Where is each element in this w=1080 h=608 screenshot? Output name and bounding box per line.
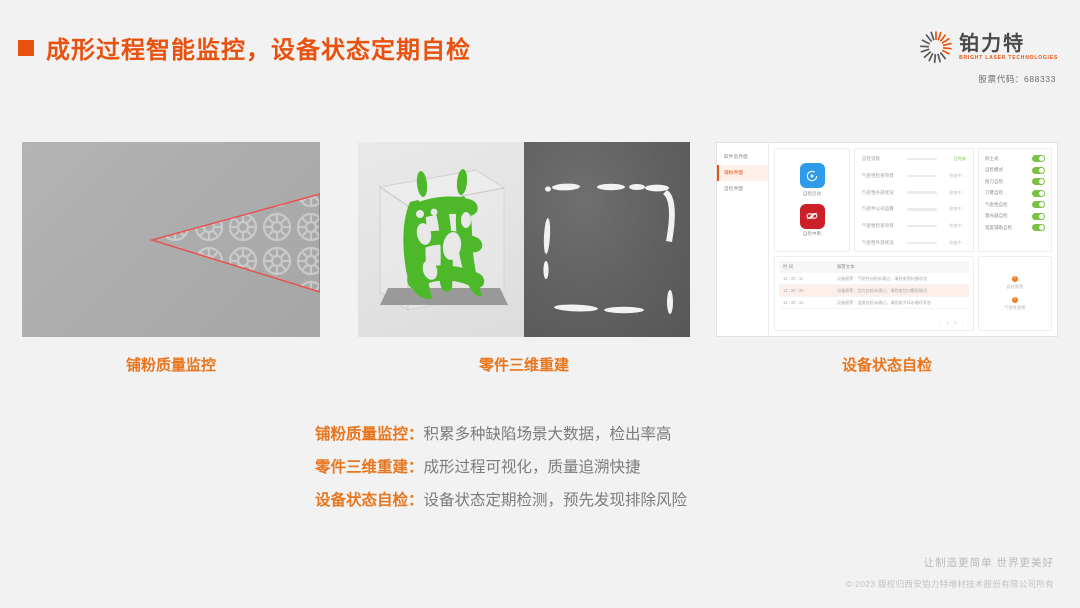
toggle-label: 温度辅助自检 <box>985 225 1012 231</box>
footer-copyright: © 2023 版权归西安铂力特增材技术股份有限公司所有 <box>846 578 1054 590</box>
table-row[interactable]: 13 : 20 : 36 设备报警：刮刀自检未通过，请检查刮刀磨损情况 <box>779 285 969 297</box>
toggle-label: 自检模式 <box>985 167 1003 173</box>
toggle-label: 除尘式 <box>985 156 999 162</box>
bullet-label: 铺粉质量监控： <box>315 426 424 443</box>
part-reconstruction-image <box>358 142 690 337</box>
table-header: 时 间 报警文本 <box>779 261 969 273</box>
progress-bar <box>907 191 937 194</box>
bullet-label: 设备状态自检： <box>315 492 424 509</box>
bullet-item: 铺粉质量监控：积累多种缺陷场景大数据，检出率高 <box>315 418 835 451</box>
progress-row: 气密性检查项目 检查中… <box>862 173 966 179</box>
toggle-row[interactable]: 刮刀自检 <box>985 178 1045 185</box>
alert-label: 自检报警 <box>1006 284 1023 290</box>
bullet-item: 零件三维重建：成形过程可视化，质量追溯快捷 <box>315 451 835 484</box>
sidebar-item-2[interactable]: 自检界面 <box>717 181 768 197</box>
sidebar-item-0[interactable]: 取件后界面 <box>717 149 768 165</box>
selfcheck-stop-button[interactable]: 自检中断 <box>800 204 825 238</box>
column-header-text: 报警文本 <box>837 264 855 270</box>
alert-summary-card: 自检报警 气密性报警 <box>978 256 1052 331</box>
progress-status: 检查中… <box>942 240 966 246</box>
cell-time: 13 : 25 : 11 <box>783 276 825 282</box>
caption-selfcheck: 设备状态自检 <box>716 354 1058 375</box>
device-selfcheck-dashboard: 取件后界面 铺粉界面 自检界面 自检启动 <box>716 142 1058 337</box>
title-bullet-icon <box>18 40 34 56</box>
toggle-switch[interactable] <box>1032 201 1045 208</box>
progress-row: 气密性检查项目 检查中… <box>862 223 966 229</box>
slide-header: 成形过程智能监控，设备状态定期自检 <box>0 0 1080 100</box>
table-row[interactable]: 13 : 20 : 10 设备报警：温度自检未通过，请检查冷却水循环状态 <box>779 297 969 309</box>
table-row[interactable]: 13 : 25 : 11 设备报警：气密性自检未通过，请检查密封圈状态 <box>779 273 969 285</box>
defect-detection-view <box>524 142 690 337</box>
toggle-switch[interactable] <box>1032 190 1045 197</box>
caption-powder-quality: 铺粉质量监控 <box>22 354 320 375</box>
toggle-row[interactable]: 刀臂自检 <box>985 190 1045 197</box>
toggle-switch[interactable] <box>1032 213 1045 220</box>
selfcheck-actions-card: 自检启动 自检中断 <box>774 148 850 252</box>
dashboard-sidebar: 取件后界面 铺粉界面 自检界面 <box>717 143 769 336</box>
progress-status: 检查中… <box>942 190 966 196</box>
bullet-desc: 设备状态定期检测，预先发现排除风险 <box>424 492 688 509</box>
logo-name-en: BRIGHT LASER TECHNOLOGIES <box>959 56 1058 61</box>
selfcheck-stop-label: 自检中断 <box>800 231 825 237</box>
stock-code: 股票代码：688333 <box>908 73 1058 85</box>
selfcheck-progress-card: 自检流程 已完成 气密性检查项目 检查中… 气密性外部状况 检查中… 气密件公司… <box>854 148 974 252</box>
progress-row: 气密性外部状况 检查中… <box>862 190 966 196</box>
table-pagination[interactable]: ‹ 1 2 › <box>779 317 969 326</box>
progress-label: 气密性检查项目 <box>862 223 902 229</box>
cell-time: 13 : 20 : 10 <box>783 300 825 306</box>
sunburst-logo-icon <box>919 30 953 64</box>
cell-text: 设备报警：刮刀自检未通过，请检查刮刀磨损情况 <box>837 288 927 294</box>
progress-row: 气密件公司运算 检查中… <box>862 206 966 212</box>
bullet-desc: 积累多种缺陷场景大数据，检出率高 <box>424 426 672 443</box>
sidebar-item-1[interactable]: 铺粉界面 <box>717 165 768 181</box>
toggle-label: 刀臂自检 <box>985 190 1003 196</box>
progress-label: 气密性外部状况 <box>862 240 902 246</box>
cell-text: 设备报警：温度自检未通过，请检查冷却水循环状态 <box>837 300 931 306</box>
brand-logo: 铂力特 BRIGHT LASER TECHNOLOGIES 股票代码：68833… <box>908 30 1058 85</box>
caption-reconstruction: 零件三维重建 <box>358 354 690 375</box>
bullet-item: 设备状态自检：设备状态定期检测，预先发现排除风险 <box>315 484 835 517</box>
dashboard-main: 自检启动 自检中断 自检流程 <box>769 143 1057 336</box>
warning-icon <box>1012 297 1018 303</box>
warning-icon <box>1012 276 1018 282</box>
selfcheck-start-button[interactable]: 自检启动 <box>800 163 825 197</box>
toggle-switch[interactable] <box>1032 224 1045 231</box>
progress-bar <box>907 175 937 178</box>
logo-name-cn: 铂力特 <box>959 34 1058 54</box>
progress-row: 气密性外部状况 检查中… <box>862 240 966 246</box>
toggle-switch[interactable] <box>1032 178 1045 185</box>
progress-bar <box>907 242 937 245</box>
play-circle-icon <box>800 163 825 188</box>
alert-item: 气密性报警 <box>1004 297 1025 311</box>
progress-bar <box>907 208 937 211</box>
progress-label: 气密性检查项目 <box>862 173 902 179</box>
toggle-label: 刮刀自检 <box>985 179 1003 185</box>
toggle-label: 激光器自检 <box>985 213 1008 219</box>
page-title: 成形过程智能监控，设备状态定期自检 <box>46 30 471 65</box>
progress-label: 气密件公司运算 <box>862 206 902 212</box>
cell-text: 设备报警：气密性自检未通过，请检查密封圈状态 <box>837 276 927 282</box>
bullet-label: 零件三维重建： <box>315 459 424 476</box>
progress-row: 自检流程 已完成 <box>862 156 966 162</box>
footer-slogan: 让制造更简单 世界更美好 <box>846 555 1054 570</box>
progress-status: 检查中… <box>942 173 966 179</box>
progress-bar <box>907 225 937 228</box>
toggle-row[interactable]: 激光器自检 <box>985 213 1045 220</box>
reconstruction-3d-view <box>358 142 524 337</box>
selfcheck-start-label: 自检启动 <box>800 191 825 197</box>
progress-label: 气密性外部状况 <box>862 190 902 196</box>
bullet-desc: 成形过程可视化，质量追溯快捷 <box>424 459 641 476</box>
progress-status: 检查中… <box>942 223 966 229</box>
toggle-row[interactable]: 气密性自检 <box>985 201 1045 208</box>
powder-quality-image <box>22 142 320 337</box>
toggle-row[interactable]: 自检模式 <box>985 167 1045 174</box>
selfcheck-toggles-card: 除尘式 自检模式 刮刀自检 刀臂自检 气密性自检 <box>978 148 1052 252</box>
column-header-time: 时 间 <box>783 264 825 270</box>
toggle-row[interactable]: 温度辅助自检 <box>985 224 1045 231</box>
toggle-switch[interactable] <box>1032 155 1045 162</box>
slide-footer: 让制造更简单 世界更美好 © 2023 版权归西安铂力特增材技术股份有限公司所有 <box>846 555 1054 590</box>
toggle-row[interactable]: 除尘式 <box>985 155 1045 162</box>
feature-bullet-list: 铺粉质量监控：积累多种缺陷场景大数据，检出率高 零件三维重建：成形过程可视化，质… <box>315 418 835 517</box>
progress-label: 自检流程 <box>862 156 902 162</box>
alert-item: 自检报警 <box>1006 276 1023 290</box>
progress-status: 已完成 <box>942 156 966 162</box>
stop-link-icon <box>800 204 825 229</box>
alert-label: 气密性报警 <box>1004 305 1025 311</box>
alarm-table-card: 时 间 报警文本 13 : 25 : 11 设备报警：气密性自检未通过，请检查密… <box>774 256 974 331</box>
progress-status: 检查中… <box>942 206 966 212</box>
cell-time: 13 : 20 : 36 <box>783 288 825 294</box>
progress-bar <box>907 158 937 161</box>
toggle-label: 气密性自检 <box>985 202 1008 208</box>
toggle-switch[interactable] <box>1032 167 1045 174</box>
